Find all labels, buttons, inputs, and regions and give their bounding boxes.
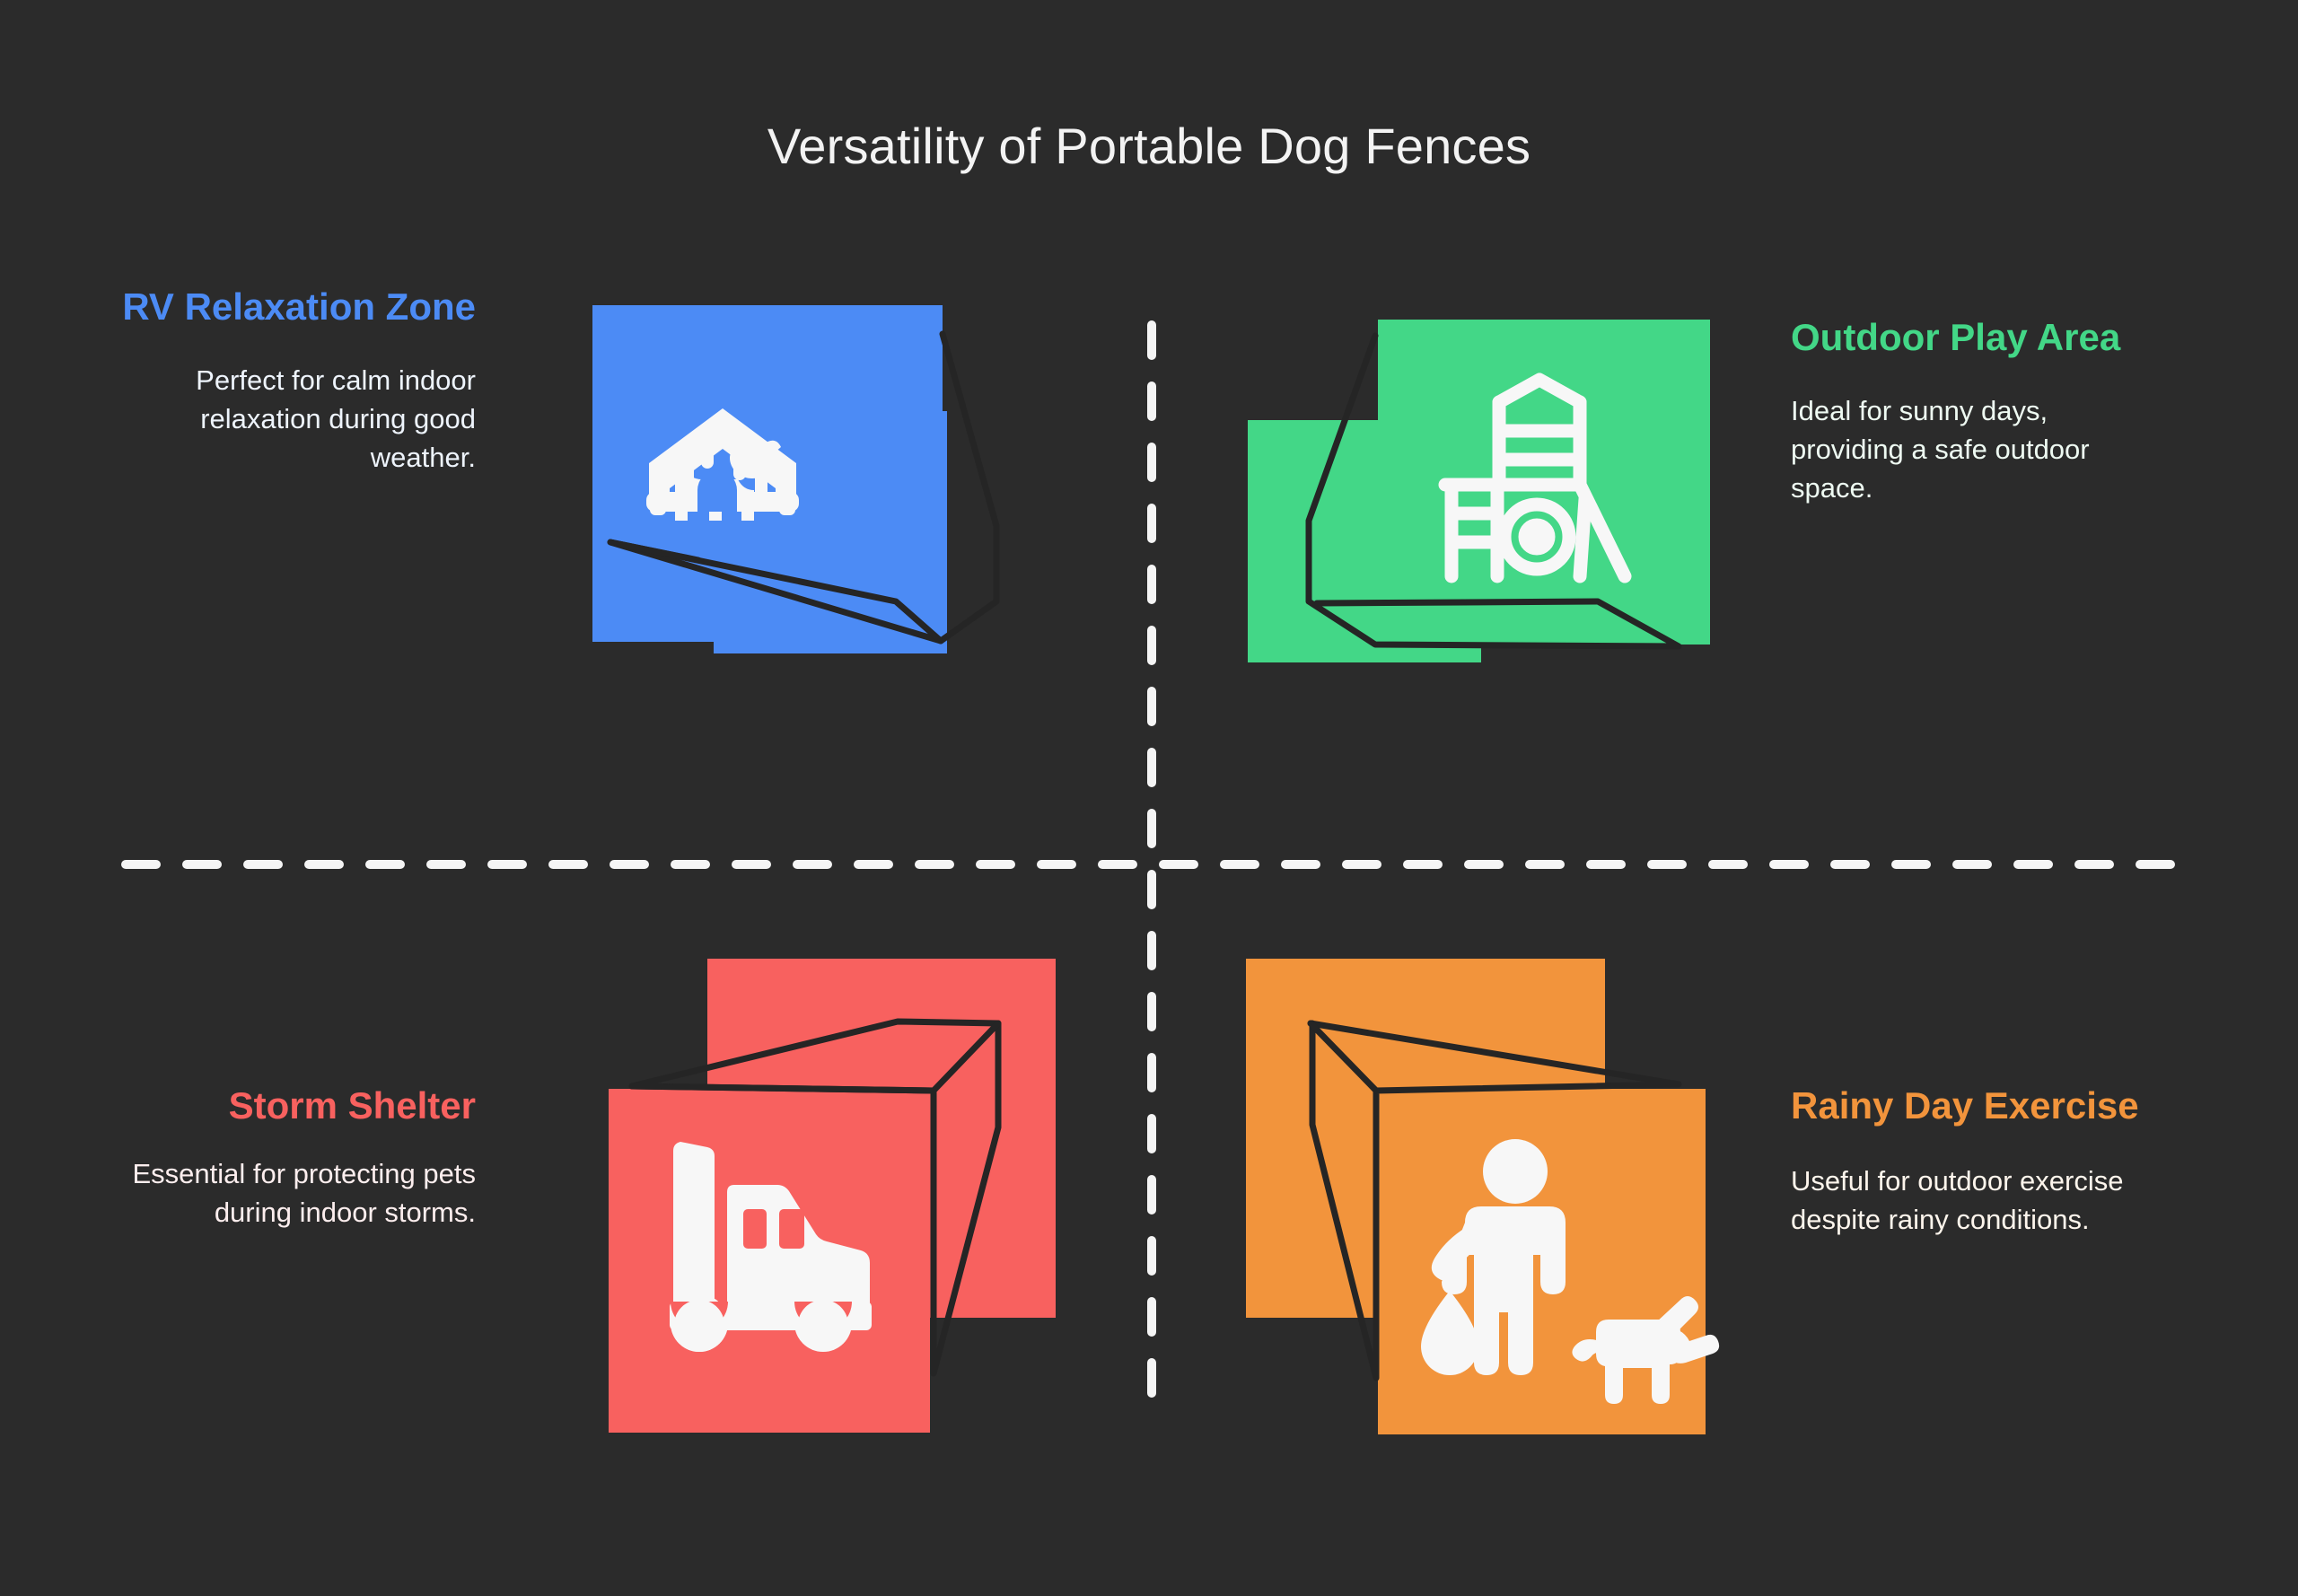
quadrant-graphic-rv-relaxation-zone [592,305,1149,826]
quadrant-body-rv-relaxation-zone: Perfect for calm indoor relaxation durin… [117,362,476,477]
quadrant-heading-storm-shelter: Storm Shelter [108,1084,476,1127]
quadrant-heading-outdoor-play-area: Outdoor Play Area [1791,316,2168,358]
quadrant-text-outdoor-play-area: Outdoor Play Area Ideal for sunny days, … [1791,316,2168,507]
quadrant-text-storm-shelter: Storm Shelter Essential for protecting p… [108,1084,476,1232]
infographic-canvas: Versatility of Portable Dog Fences RV Re… [0,0,2298,1596]
quadrant-body-rainy-day-exercise: Useful for outdoor exercise despite rain… [1791,1162,2168,1240]
quadrant-graphic-rainy-day-exercise [1230,943,1786,1463]
quadrant-graphic-outdoor-play-area [1230,305,1786,826]
quadrant-body-outdoor-play-area: Ideal for sunny days, providing a safe o… [1791,392,2168,507]
quadrant-text-rv-relaxation-zone: RV Relaxation Zone Perfect for calm indo… [117,285,476,477]
quadrant-text-rainy-day-exercise: Rainy Day Exercise Useful for outdoor ex… [1791,1084,2168,1240]
quadrant-heading-rainy-day-exercise: Rainy Day Exercise [1791,1084,2168,1127]
quadrant-graphic-storm-shelter [592,943,1149,1463]
page-title: Versatility of Portable Dog Fences [0,118,2298,174]
quadrant-body-storm-shelter: Essential for protecting pets during ind… [108,1155,476,1232]
quadrant-heading-rv-relaxation-zone: RV Relaxation Zone [117,285,476,328]
